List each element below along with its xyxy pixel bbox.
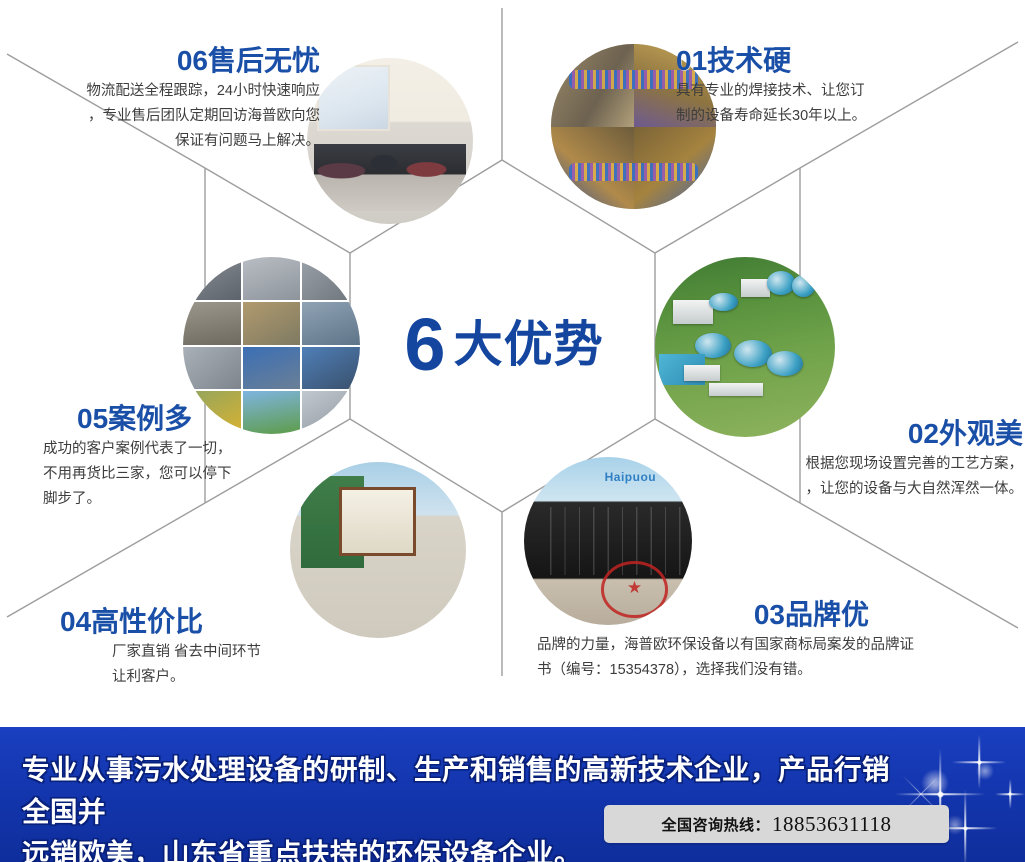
feature-title-05: 05案例多	[43, 404, 323, 433]
feature-desc-line: 制的设备寿命延长30年以上。	[676, 104, 996, 129]
feature-desc-05: 成功的客户案例代表了一切， 不用再货比三家，您可以停下 脚步了。	[43, 437, 323, 512]
feature-desc-line: 脚步了。	[43, 487, 323, 512]
feature-block-04: 04高性价比 厂家直销 省去中间环节 让利客户。	[60, 607, 360, 690]
feature-block-03: 03品牌优 品牌的力量，海普欧环保设备以有国家商标局案发的品牌证 书（编号：15…	[537, 600, 1007, 683]
feature-desc-line: 书（编号：15354378），选择我们没有错。	[537, 658, 1007, 683]
feature-photo-02	[655, 257, 835, 437]
feature-desc-02: 根据您现场设置完善的工艺方案， ，让您的设备与大自然浑然一体。	[660, 452, 1023, 502]
feature-title-04: 04高性价比	[60, 607, 360, 636]
feature-desc-line: 品牌的力量，海普欧环保设备以有国家商标局案发的品牌证	[537, 633, 1007, 658]
feature-block-01: 01技术硬 具有专业的焊接技术、让您订 制的设备寿命延长30年以上。	[676, 46, 996, 129]
feature-photo-06	[307, 58, 473, 224]
center-number: 6	[404, 308, 443, 382]
feature-title-03: 03品牌优	[537, 600, 1007, 629]
feature-desc-04: 厂家直销 省去中间环节 让利客户。	[60, 640, 360, 690]
feature-desc-06: 物流配送全程跟踪，24小时快速响应 ，专业售后团队定期回访海普欧向您 保证有问题…	[10, 79, 320, 154]
feature-desc-line: 成功的客户案例代表了一切，	[43, 437, 323, 462]
feature-desc-01: 具有专业的焊接技术、让您订 制的设备寿命延长30年以上。	[676, 79, 996, 129]
feature-title-01: 01技术硬	[676, 46, 996, 75]
feature-desc-line: 具有专业的焊接技术、让您订	[676, 79, 996, 104]
feature-desc-line: 让利客户。	[112, 665, 360, 690]
feature-desc-line: 根据您现场设置完善的工艺方案，	[660, 452, 1023, 477]
feature-title-02: 02外观美	[660, 419, 1023, 448]
feature-block-02: 02外观美 根据您现场设置完善的工艺方案， ，让您的设备与大自然浑然一体。	[660, 419, 1023, 502]
center-word: 大优势	[454, 321, 604, 370]
sparkle-icon	[995, 779, 1025, 809]
advantages-infographic: 6 大优势 06售后无忧 物流配送全程跟踪，24小时快速响应 ，专业售后团队定期…	[0, 0, 1025, 862]
center-label: 6 大优势	[352, 300, 656, 390]
feature-title-06: 06售后无忧	[10, 46, 320, 75]
hotline-label: 全国咨询热线：	[662, 814, 771, 835]
feature-desc-line: 保证有问题马上解决。	[10, 129, 320, 154]
hotline-number: 18853631118	[772, 812, 891, 837]
feature-block-05: 05案例多 成功的客户案例代表了一切， 不用再货比三家，您可以停下 脚步了。	[43, 404, 323, 512]
feature-desc-line: ，专业售后团队定期回访海普欧向您	[10, 104, 320, 129]
hotline-box[interactable]: 全国咨询热线： 18853631118	[604, 805, 949, 843]
feature-desc-line: ，让您的设备与大自然浑然一体。	[660, 477, 1023, 502]
feature-desc-line: 不用再货比三家，您可以停下	[43, 462, 323, 487]
feature-block-06: 06售后无忧 物流配送全程跟踪，24小时快速响应 ，专业售后团队定期回访海普欧向…	[10, 46, 320, 154]
feature-desc-line: 厂家直销 省去中间环节	[112, 640, 360, 665]
haipuou-logo: Haipuou	[605, 470, 657, 484]
sparkle-icon	[952, 735, 1006, 789]
feature-desc-line: 物流配送全程跟踪，24小时快速响应	[10, 79, 320, 104]
feature-desc-03: 品牌的力量，海普欧环保设备以有国家商标局案发的品牌证 书（编号：15354378…	[537, 633, 1007, 683]
